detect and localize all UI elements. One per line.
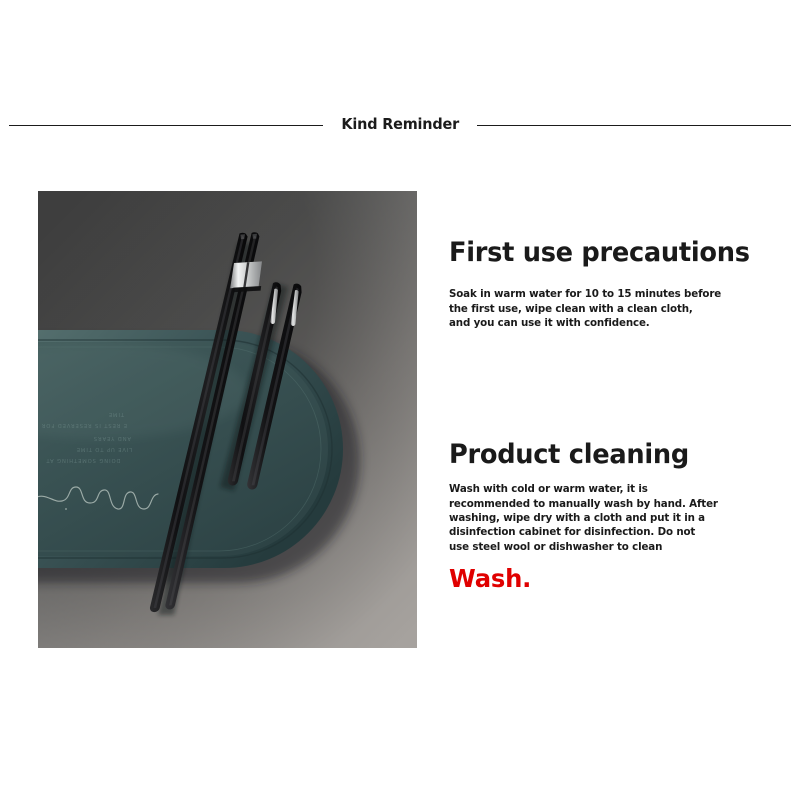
section-body: Wash with cold or warm water, it is reco… (449, 482, 757, 553)
section-product-cleaning: Product cleaning Wash with cold or warm … (449, 441, 767, 591)
header-rule-left (9, 125, 323, 126)
svg-text:E REST IS RESERVED FOR: E REST IS RESERVED FOR (41, 422, 127, 428)
body-line: use steel wool or dishwasher to clean (449, 540, 757, 554)
product-photo-chopsticks-on-tray: TIME E REST IS RESERVED FOR AND YEARS LI… (38, 191, 417, 648)
page-title: Kind Reminder (328, 117, 472, 133)
section-first-use-precautions: First use precautions Soak in warm water… (449, 239, 767, 330)
kind-reminder-header: Kind Reminder (9, 112, 791, 138)
section-body: Soak in warm water for 10 to 15 minutes … (449, 287, 757, 330)
svg-text:TIME: TIME (108, 411, 125, 417)
section-heading: Product cleaning (449, 441, 751, 469)
body-line: and you can use it with confidence. (449, 316, 757, 330)
svg-text:DOING SOMETHING AT: DOING SOMETHING AT (46, 457, 121, 463)
header-rule-right (477, 125, 791, 126)
section-heading: First use precautions (449, 239, 751, 267)
emphasis-text: Wash. (449, 566, 757, 591)
body-line: disinfection cabinet for disinfection. D… (449, 525, 757, 539)
svg-text:AND YEARS: AND YEARS (93, 435, 131, 441)
svg-text:LIVE UP TO TIME: LIVE UP TO TIME (76, 446, 132, 452)
body-line: recommended to manually wash by hand. Af… (449, 497, 757, 511)
body-line: Soak in warm water for 10 to 15 minutes … (449, 287, 757, 301)
body-line: washing, wipe dry with a cloth and put i… (449, 511, 757, 525)
body-line: the first use, wipe clean with a clean c… (449, 302, 757, 316)
body-line: Wash with cold or warm water, it is (449, 482, 757, 496)
